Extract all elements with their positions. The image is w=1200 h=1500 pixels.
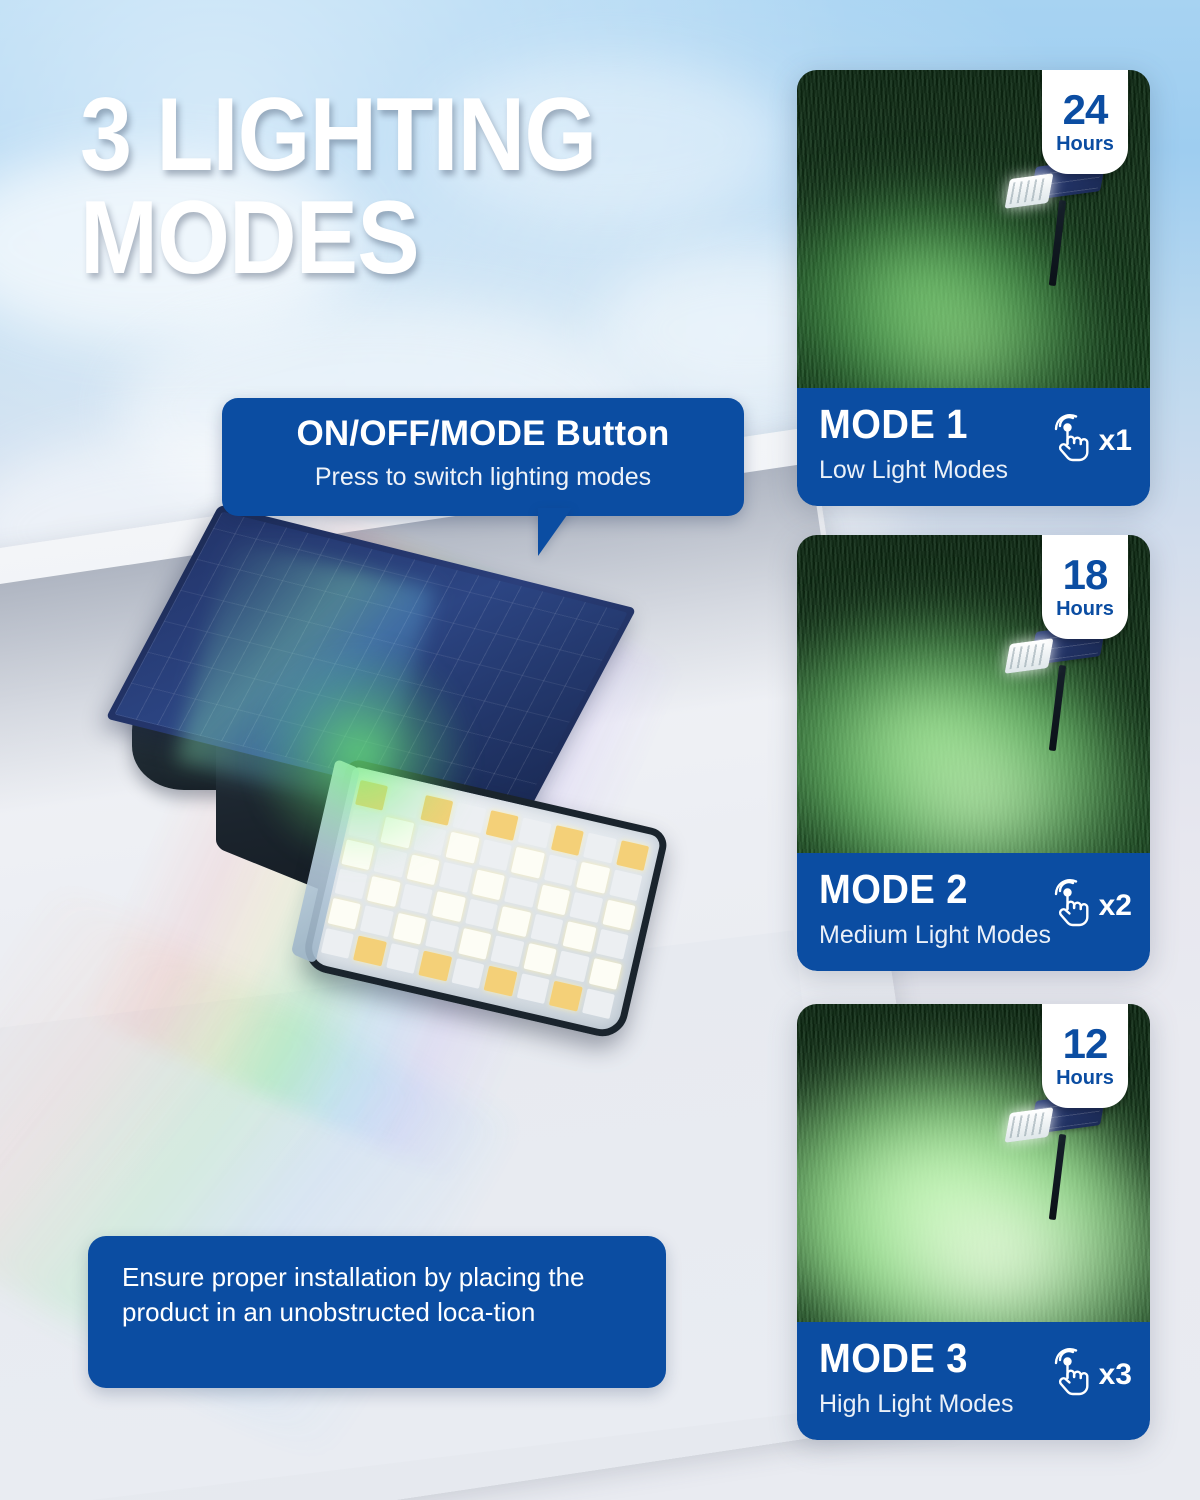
tap-gesture-icon xyxy=(1049,877,1095,927)
infographic-stage: 3 LIGHTING MODES ON/OFF/MODE Butto xyxy=(0,0,1200,1500)
tap-gesture-icon xyxy=(1049,412,1095,462)
callout-subtitle: Press to switch lighting modes xyxy=(222,463,744,492)
page-title-line-1: 3 LIGHTING xyxy=(80,77,596,193)
tap-gesture-icon xyxy=(1049,1346,1095,1396)
hours-badge: 12 Hours xyxy=(1042,1004,1128,1108)
hours-badge: 18 Hours xyxy=(1042,535,1128,639)
mode-subtitle: Low Light Modes xyxy=(819,456,1008,485)
mode-title: MODE 2 xyxy=(819,869,968,910)
mode-subtitle: Medium Light Modes xyxy=(819,921,1051,950)
mode-card[interactable]: 12 Hours MODE 3 High Light Modes xyxy=(797,1004,1150,1440)
stake-pole xyxy=(1049,200,1066,286)
press-indicator: x2 xyxy=(1049,877,1132,927)
mode-label-bar: MODE 2 Medium Light Modes xyxy=(797,853,1150,971)
mode-photo: 18 Hours xyxy=(797,535,1150,853)
stake-led-head xyxy=(1005,1107,1054,1143)
hours-value: 24 xyxy=(1063,89,1108,131)
press-count: x2 xyxy=(1099,891,1132,927)
hours-badge: 24 Hours xyxy=(1042,70,1128,174)
hours-unit: Hours xyxy=(1056,1067,1114,1090)
mode-photo: 24 Hours xyxy=(797,70,1150,388)
mode-title: MODE 3 xyxy=(819,1338,968,1379)
stake-pole xyxy=(1049,1134,1066,1220)
mode-photo: 12 Hours xyxy=(797,1004,1150,1322)
hours-value: 18 xyxy=(1063,554,1108,596)
mode-subtitle: High Light Modes xyxy=(819,1390,1014,1419)
stake-led-head xyxy=(1005,173,1054,209)
button-callout: ON/OFF/MODE Button Press to switch light… xyxy=(222,398,744,516)
hours-unit: Hours xyxy=(1056,133,1114,156)
mode-card[interactable]: 18 Hours MODE 2 Medium Light Modes xyxy=(797,535,1150,971)
hours-value: 12 xyxy=(1063,1023,1108,1065)
green-light-glow xyxy=(255,640,465,870)
mode-card[interactable]: 24 Hours MODE 1 Low Light Modes xyxy=(797,70,1150,506)
stake-light xyxy=(1008,162,1104,282)
stake-light xyxy=(1008,627,1104,747)
press-indicator: x3 xyxy=(1049,1346,1132,1396)
callout-title: ON/OFF/MODE Button xyxy=(222,414,744,454)
mode-label-bar: MODE 3 High Light Modes xyxy=(797,1322,1150,1440)
mode-title: MODE 1 xyxy=(819,404,968,445)
press-count: x1 xyxy=(1099,426,1132,462)
hours-unit: Hours xyxy=(1056,598,1114,621)
mode-label-bar: MODE 1 Low Light Modes xyxy=(797,388,1150,506)
page-title-line-2: MODES xyxy=(80,187,674,290)
page-title: 3 LIGHTING MODES xyxy=(80,84,674,290)
installation-note-text: Ensure proper installation by placing th… xyxy=(122,1260,640,1330)
installation-note: Ensure proper installation by placing th… xyxy=(88,1236,666,1388)
callout-pointer xyxy=(538,508,580,556)
stake-led-head xyxy=(1005,638,1054,674)
stake-pole xyxy=(1049,665,1066,751)
stake-light xyxy=(1008,1096,1104,1216)
press-count: x3 xyxy=(1099,1360,1132,1396)
press-indicator: x1 xyxy=(1049,412,1132,462)
